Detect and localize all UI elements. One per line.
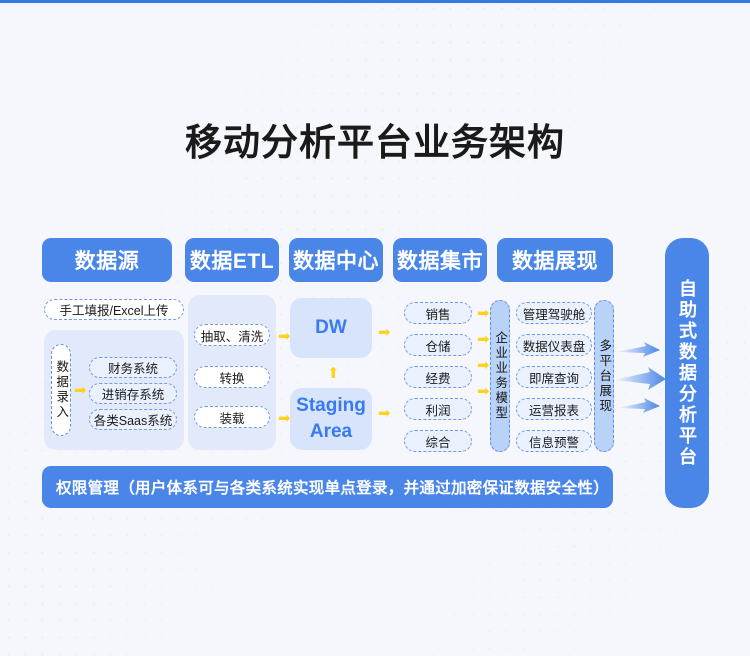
- arrow-mart-to-model-3: ➡: [477, 358, 490, 373]
- source-system-finance: 财务系统: [89, 357, 177, 378]
- arrow-staging-to-dw: ⬆: [327, 366, 340, 381]
- top-accent-bar: [0, 0, 750, 3]
- arrow-mart-to-model-4: ➡: [477, 384, 490, 399]
- arrow-staging-to-mart: ➡: [378, 406, 391, 421]
- self-service-platform-panel: 自助式数据分析平台: [665, 238, 709, 508]
- etl-step-load: 装载: [194, 406, 270, 428]
- source-system-saas: 各类Saas系统: [89, 409, 177, 430]
- platform-inflow-arrows: [612, 340, 668, 418]
- display-item-alert: 信息预警: [516, 430, 592, 452]
- data-warehouse-box: DW: [290, 298, 372, 358]
- etl-step-extract-clean: 抽取、清洗: [194, 324, 270, 346]
- permission-management-bar: 权限管理（用户体系可与各类系统实现单点登录，并通过加密保证数据安全性）: [42, 466, 613, 508]
- display-item-management-cockpit: 管理驾驶舱: [516, 302, 592, 324]
- enterprise-business-model-label: 企业业务模型: [490, 300, 510, 452]
- column-header-data-center: 数据中心: [289, 238, 383, 282]
- column-header-data-mart: 数据集市: [393, 238, 487, 282]
- column-header-data-source: 数据源: [42, 238, 172, 282]
- page-title: 移动分析平台业务架构: [0, 112, 750, 166]
- arrow-dw-to-mart: ➡: [378, 325, 391, 340]
- arrow-mart-to-model-2: ➡: [477, 332, 490, 347]
- display-item-adhoc-query: 即席查询: [516, 366, 592, 388]
- column-header-data-display: 数据展现: [497, 238, 613, 282]
- staging-area-box: Staging Area: [290, 388, 372, 450]
- background-dot-pattern: [0, 0, 750, 656]
- mart-item-expense: 经费: [404, 366, 472, 388]
- diagram-canvas: 移动分析平台业务架构 数据源 数据ETL 数据中心 数据集市 数据展现 手工填报…: [0, 0, 750, 656]
- manual-upload-pill: 手工填报/Excel上传: [44, 299, 184, 320]
- mart-item-sales: 销售: [404, 302, 472, 324]
- column-header-data-etl: 数据ETL: [185, 238, 279, 282]
- etl-step-transform: 转换: [194, 366, 270, 388]
- arrow-etl-to-staging: ➡: [278, 411, 291, 426]
- mart-item-profit: 利润: [404, 398, 472, 420]
- staging-area-line2: Area: [310, 421, 352, 442]
- mart-item-general: 综合: [404, 430, 472, 452]
- display-item-dashboard: 数据仪表盘: [516, 334, 592, 356]
- mart-item-warehouse: 仓储: [404, 334, 472, 356]
- arrow-etl-to-dw: ➡: [278, 329, 291, 344]
- arrow-entry-to-systems: ➡: [74, 383, 87, 398]
- arrow-mart-to-model-1: ➡: [477, 306, 490, 321]
- multiplatform-display-label: 多平台展现: [594, 300, 614, 452]
- data-entry-vertical-label: 数据录入: [51, 344, 71, 436]
- display-item-operations-report: 运营报表: [516, 398, 592, 420]
- staging-area-line1: Staging: [296, 395, 366, 416]
- source-system-inventory: 进销存系统: [89, 383, 177, 404]
